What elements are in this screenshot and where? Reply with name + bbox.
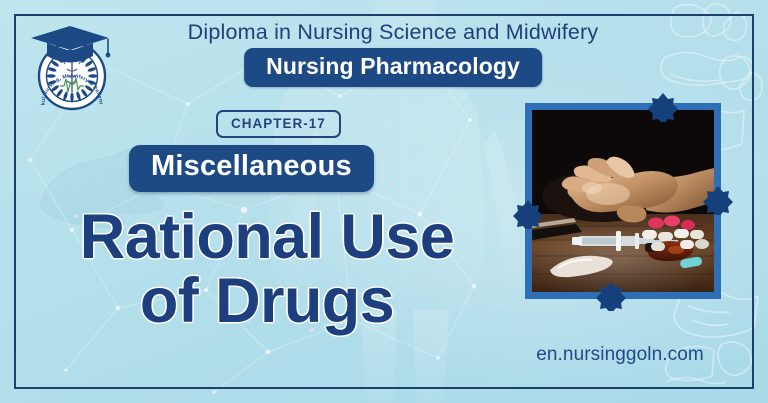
diamond-ornament-top bbox=[648, 92, 678, 122]
course-title: Diploma in Nursing Science and Midwifery bbox=[0, 20, 768, 45]
website-url: en.nursinggoln.com bbox=[515, 344, 725, 366]
chapter-badge: CHAPTER-17 bbox=[216, 110, 341, 138]
course-banner: Gurukul Nursing, Midwifery & Patient Car… bbox=[0, 0, 768, 403]
page-title: Rational Use of Drugs bbox=[22, 205, 512, 334]
photo-frame-border bbox=[525, 103, 721, 299]
diamond-ornament-bottom bbox=[596, 281, 626, 311]
topic-badge: Miscellaneous bbox=[129, 145, 374, 192]
subject-badge: Nursing Pharmacology bbox=[244, 48, 542, 87]
diamond-ornament-right bbox=[703, 185, 733, 215]
diamond-ornament-left bbox=[513, 199, 543, 229]
page-title-line-2: of Drugs bbox=[22, 269, 512, 333]
page-title-line-1: Rational Use bbox=[22, 205, 512, 269]
drug-abuse-photo bbox=[525, 103, 721, 299]
